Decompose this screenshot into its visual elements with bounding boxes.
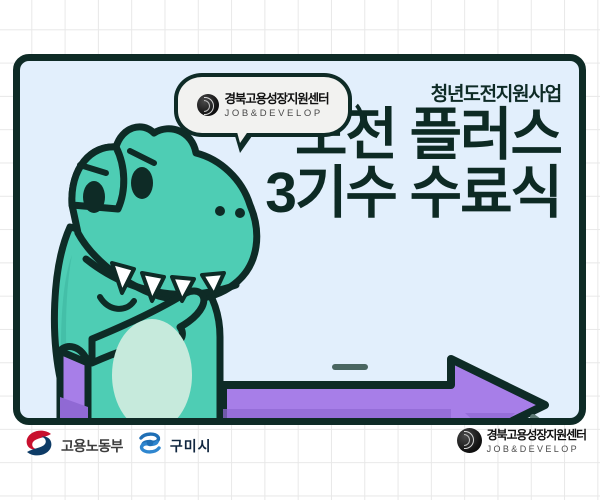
footer-brand-korean: 경북고용성장지원센터 — [487, 428, 586, 442]
taegeuk-icon — [24, 430, 54, 461]
footer-org-molab: 고용노동부 — [24, 430, 123, 461]
gumi-swirl-icon — [137, 431, 163, 460]
footer-org-label-molab: 고용노동부 — [61, 436, 123, 456]
jobdevelop-logo-icon — [457, 428, 482, 453]
poster-card: 경북고용성장지원센터 JOB&DEVELOP 청년도전지원사업 도전 플러스 3… — [13, 54, 586, 425]
purple-book — [60, 347, 88, 425]
speech-bubble: 경북고용성장지원센터 JOB&DEVELOP — [174, 73, 352, 137]
poster-canvas: 경북고용성장지원센터 JOB&DEVELOP 청년도전지원사업 도전 플러스 3… — [0, 0, 600, 500]
footer-org-label-gumi: 구미시 — [170, 436, 212, 456]
speech-bubble-tail-fill — [233, 117, 258, 143]
bubble-brand-korean: 경북고용성장지원센터 — [224, 92, 328, 106]
headline-line-2: 3기수 수료식 — [231, 166, 561, 222]
footer-brand-lockup: 경북고용성장지원센터 JOB&DEVELOP — [457, 427, 586, 454]
footer-org-gumi: 구미시 — [137, 431, 212, 460]
footer-org-list: 고용노동부 구미시 — [24, 430, 212, 461]
footer-brand-english: JOB&DEVELOP — [487, 445, 586, 454]
left-eye — [83, 181, 105, 213]
right-eye — [131, 167, 153, 199]
footer-bar: 고용노동부 구미시 경북고용성장지원센터 JOB&DEVELOP — [0, 426, 600, 468]
jobdevelop-logo-icon — [197, 94, 219, 116]
right-arrow-graphic — [215, 351, 575, 425]
